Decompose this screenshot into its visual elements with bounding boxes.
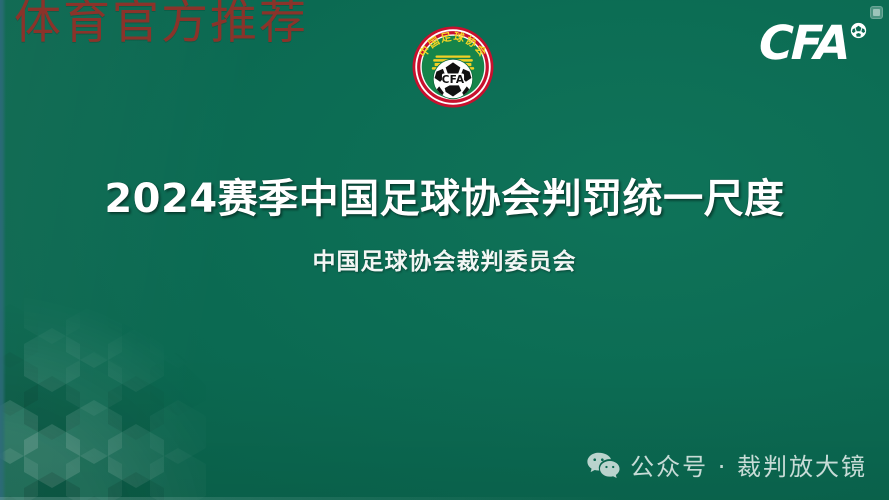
slide-title: 2024赛季中国足球协会判罚统一尺度 xyxy=(0,176,889,222)
wechat-icon xyxy=(586,451,620,479)
hexagon-pattern-decoration xyxy=(0,276,266,500)
presentation-slide: 体育官方推荐 中国足球协会 xyxy=(0,0,889,500)
soccer-ball-icon xyxy=(850,22,867,44)
slide-subtitle: 中国足球协会裁判委员会 xyxy=(0,249,889,277)
wechat-account-label: 公众号 · 裁判放大镜 xyxy=(630,447,867,482)
cfa-emblem: 中国足球协会 xyxy=(407,18,499,116)
watermark-sports-official-recommendation: 体育官方推荐 xyxy=(14,0,308,48)
cfa-wordmark: CFA xyxy=(759,20,867,67)
corner-badge-icon xyxy=(870,6,883,19)
svg-text:CFA: CFA xyxy=(442,74,465,86)
wechat-account-watermark: 公众号 · 裁判放大镜 xyxy=(586,447,867,482)
cfa-wordmark-text: CFA xyxy=(758,20,849,67)
